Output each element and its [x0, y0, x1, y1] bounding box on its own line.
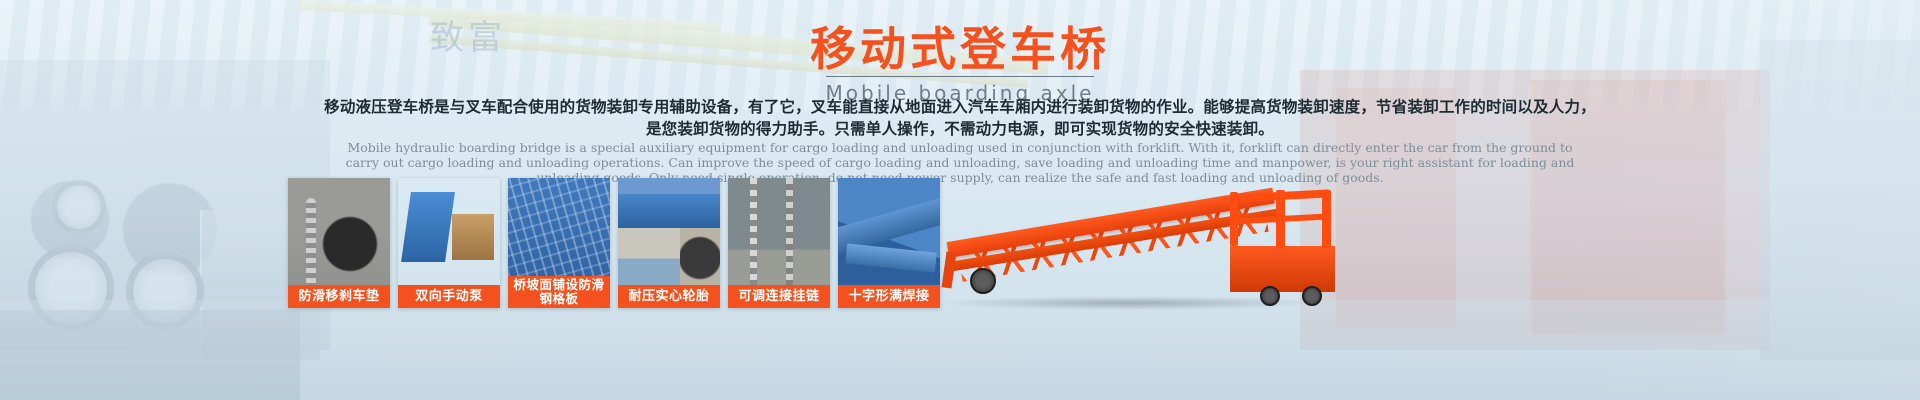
bridge-wheel [970, 268, 996, 294]
feature-thumbnail[interactable]: 可调连接挂链 [728, 178, 830, 308]
feature-caption: 防滑移刹车垫 [288, 285, 390, 308]
feature-caption: 耐压实心轮胎 [618, 285, 720, 308]
feature-caption: 桥坡面铺设防滑钢格板 [508, 276, 610, 308]
bridge-rail-post [1230, 192, 1238, 246]
description-chinese: 移动液压登车桥是与叉车配合使用的货物装卸专用辅助设备，有了它，叉车能直接从地面进… [320, 96, 1600, 140]
product-banner: 致富 移动式登车桥 Mobile boarding axle 移动液压登车桥是与… [0, 0, 1920, 400]
feature-caption: 双向手动泵 [398, 285, 500, 308]
headline-block: 移动式登车桥 Mobile boarding axle [0, 24, 1920, 105]
page-title: 移动式登车桥 [0, 24, 1920, 74]
hero-boarding-bridge [930, 190, 1330, 320]
feature-thumbnail[interactable]: 防滑移刹车垫 [288, 178, 390, 308]
bridge-wheel [1302, 286, 1322, 306]
feature-thumbnail[interactable]: 桥坡面铺设防滑钢格板 [508, 178, 610, 308]
feature-caption: 十字形满焊接 [838, 285, 940, 308]
feature-thumbnail-list: 防滑移刹车垫 双向手动泵 桥坡面铺设防滑钢格板 耐压实心轮胎 可调连接挂链 十字… [288, 178, 940, 308]
bridge-rail-post [1322, 190, 1331, 248]
bridge-platform-base [1230, 246, 1335, 292]
bridge-wheel [1260, 286, 1280, 306]
feature-thumbnail[interactable]: 双向手动泵 [398, 178, 500, 308]
feature-caption: 可调连接挂链 [728, 285, 830, 308]
feature-thumbnail[interactable]: 十字形满焊接 [838, 178, 940, 308]
feature-thumbnail[interactable]: 耐压实心轮胎 [618, 178, 720, 308]
bridge-rail-post [1276, 190, 1285, 248]
